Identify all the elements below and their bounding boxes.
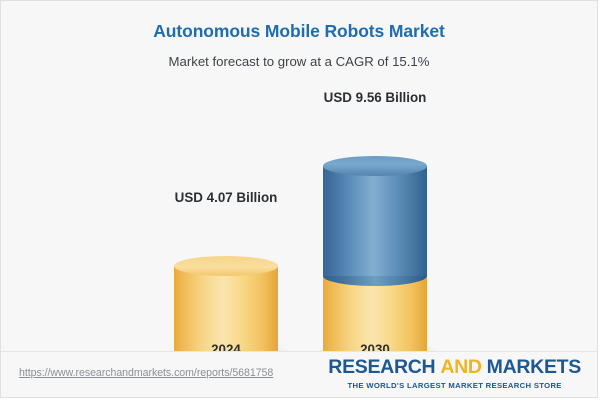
bar-value-label-2030: USD 9.56 Billion [323, 90, 427, 105]
footer: https://www.researchandmarkets.com/repor… [1, 351, 597, 397]
cylinder-2030 [323, 166, 427, 353]
infographic-card: Autonomous Mobile Robots Market Market f… [0, 0, 598, 398]
logo-tagline: THE WORLD'S LARGEST MARKET RESEARCH STOR… [328, 381, 581, 390]
research-and-markets-logo[interactable]: RESEARCHANDMARKETS THE WORLD'S LARGEST M… [328, 358, 581, 390]
cylinder-top-ellipse [174, 256, 278, 276]
chart-plot-area: USD 4.07 Billion 2024 USD 9.56 Billion [1, 1, 597, 353]
cylinder-segment-base [174, 266, 278, 353]
cylinder-segment-growth [323, 166, 427, 276]
logo-word-research: RESEARCH [328, 356, 435, 378]
cylinder-body [174, 266, 278, 353]
cylinder-2024 [174, 266, 278, 353]
report-url-link[interactable]: https://www.researchandmarkets.com/repor… [19, 367, 273, 379]
logo-word-and: AND [440, 356, 481, 378]
bar-group-2030[interactable]: USD 9.56 Billion 2030 [323, 121, 427, 353]
cylinder-body [323, 166, 427, 276]
logo-word-markets: MARKETS [487, 356, 581, 378]
bar-value-label-2024: USD 4.07 Billion [174, 190, 278, 205]
logo-wordmark: RESEARCHANDMARKETS [328, 358, 581, 378]
cylinder-top-ellipse [323, 156, 427, 176]
bar-group-2024[interactable]: USD 4.07 Billion 2024 [174, 221, 278, 353]
